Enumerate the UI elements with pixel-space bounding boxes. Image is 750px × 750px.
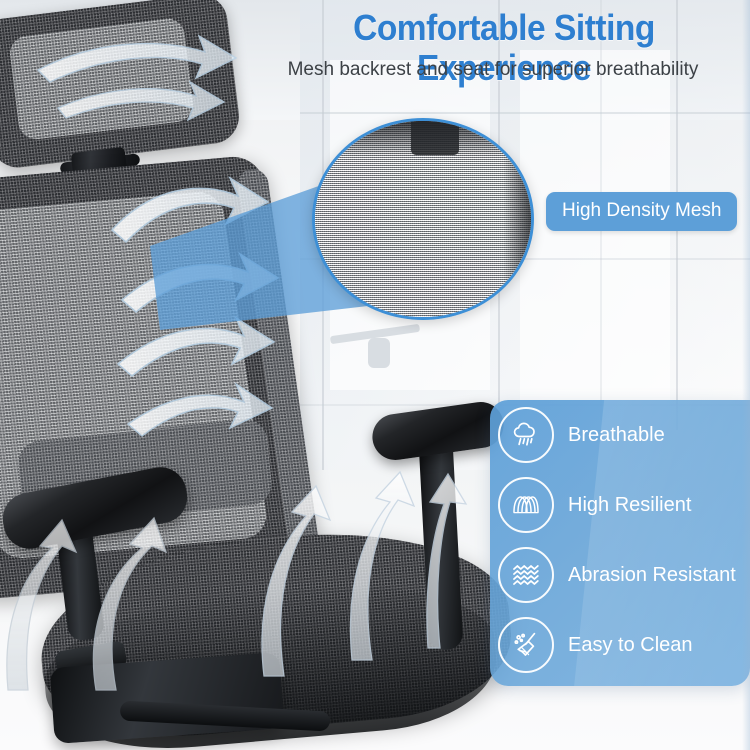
- spring-wave-icon: [498, 477, 554, 533]
- product-infographic: Comfortable Sitting Experience Mesh back…: [0, 0, 750, 750]
- feature-label: Abrasion Resistant: [568, 564, 736, 586]
- feature-item-easy-to-clean: Easy to Clean: [490, 610, 750, 680]
- feature-label: Breathable: [568, 424, 665, 446]
- feature-item-abrasion-resistant: Abrasion Resistant: [490, 540, 750, 610]
- feature-item-breathable: Breathable: [490, 400, 750, 470]
- mesh-frame-tab: [411, 121, 459, 155]
- feature-label: Easy to Clean: [568, 634, 693, 656]
- right-edge-gradient: [742, 0, 750, 750]
- page-subtitle: Mesh backrest and seat for superior brea…: [238, 58, 748, 82]
- headrest-mesh-panel: [8, 17, 195, 142]
- feature-item-high-resilient: High Resilient: [490, 470, 750, 540]
- headrest: [0, 0, 242, 171]
- armrest-right: [369, 399, 506, 463]
- mesh-frame-shadow-right: [503, 141, 534, 320]
- zigzag-waves-icon: [498, 547, 554, 603]
- feature-label: High Resilient: [568, 494, 691, 516]
- high-density-mesh-badge: High Density Mesh: [546, 192, 737, 231]
- feature-panel: Breathable High Resilient: [490, 400, 750, 686]
- rain-cloud-icon: [498, 407, 554, 463]
- broom-icon: [498, 617, 554, 673]
- feature-list: Breathable High Resilient: [490, 400, 750, 680]
- tilt-mechanism: [50, 652, 285, 744]
- magnified-mesh-view: [312, 118, 534, 320]
